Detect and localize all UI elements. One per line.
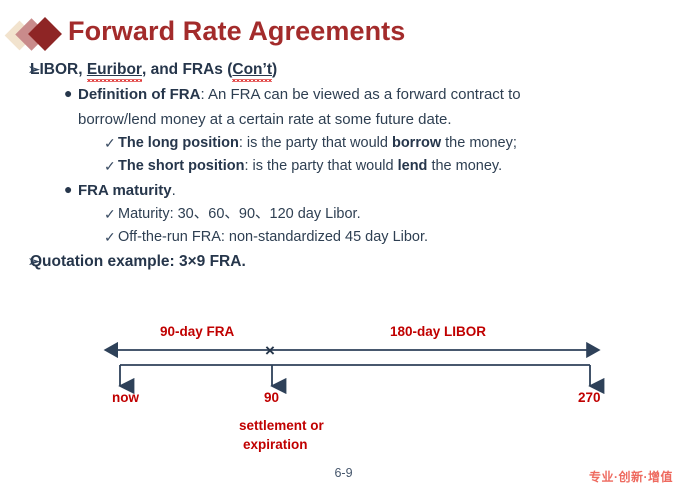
heading1-mid: , and FRAs ( <box>142 61 232 78</box>
bullet-fra-maturity: ●FRA maturity. <box>0 178 687 203</box>
timeline-node-270: 270 <box>578 390 601 405</box>
slide-body: ➢LIBOR, Euribor, and FRAs (Con’t) ●Defin… <box>0 57 687 274</box>
long-position-mid: : is the party that would <box>239 135 392 151</box>
heading1-euribor: Euribor <box>87 61 142 78</box>
long-position-label: The long position <box>118 135 239 151</box>
timeline-node-now: now <box>112 390 139 405</box>
dot-bullet-icon: ● <box>64 177 72 202</box>
short-position-tail: the money. <box>427 158 502 174</box>
timeline-node-90: 90 <box>264 390 279 405</box>
page-title: Forward Rate Agreements <box>68 16 405 47</box>
long-position-verb: borrow <box>392 135 441 151</box>
short-position-verb: lend <box>398 158 428 174</box>
bullet-long-position: ✓The long position: is the party that wo… <box>0 132 687 155</box>
bullet-libor-euribor-fras: ➢LIBOR, Euribor, and FRAs (Con’t) <box>0 57 687 82</box>
definition-text: : An FRA can be viewed as a forward cont… <box>200 86 520 103</box>
maturity-item-days: ✓Maturity: 30、60、90、120 day Libor. <box>0 203 687 226</box>
timeline-axis-graphic <box>0 318 687 458</box>
heading1-cont: Con’t <box>232 61 272 78</box>
definition-line2: borrow/lend money at a certain rate at s… <box>0 107 687 132</box>
fra-maturity-label: FRA maturity <box>78 182 172 199</box>
timeline-sublabel-settlement-line2: expiration <box>243 435 308 454</box>
heading1-post: ) <box>272 61 277 78</box>
timeline-sublabel-settlement-line1: settlement or <box>239 416 324 435</box>
dot-bullet-icon: ● <box>64 81 72 106</box>
maturity-item-days-text: Maturity: 30、60、90、120 day Libor. <box>118 206 361 222</box>
maturity-item-offtherun: ✓Off-the-run FRA: non-standardized 45 da… <box>0 226 687 249</box>
bullet-quotation-example: ➢Quotation example: 3×9 FRA. <box>0 249 687 274</box>
fra-maturity-tail: . <box>172 182 176 199</box>
diamond-cluster-logo-icon <box>8 20 66 50</box>
timeline-cross-marker: × <box>265 342 275 359</box>
bullet-short-position: ✓The short position: is the party that w… <box>0 155 687 178</box>
arrow-bullet-icon: ➢ <box>28 57 40 82</box>
arrow-bullet-icon: ➢ <box>28 249 40 274</box>
short-position-mid: : is the party that would <box>244 158 397 174</box>
short-position-label: The short position <box>118 158 244 174</box>
bullet-definition-of-fra: ●Definition of FRA: An FRA can be viewed… <box>0 82 687 107</box>
maturity-item-offtherun-text: Off-the-run FRA: non-standardized 45 day… <box>118 229 428 245</box>
definition-label: Definition of FRA <box>78 86 200 103</box>
quotation-example-text: Quotation example: 3×9 FRA. <box>30 253 246 270</box>
slide-header: Forward Rate Agreements <box>0 8 687 54</box>
check-bullet-icon: ✓ <box>104 155 116 178</box>
check-bullet-icon: ✓ <box>104 132 116 155</box>
corner-slogan: 专业·创新·增值 <box>589 468 673 485</box>
page-number: 6-9 <box>0 466 687 480</box>
check-bullet-icon: ✓ <box>104 226 116 249</box>
long-position-tail: the money; <box>441 135 517 151</box>
fra-timeline-diagram: 90-day FRA 180-day LIBOR × now 90 270 se… <box>0 318 687 458</box>
check-bullet-icon: ✓ <box>104 203 116 226</box>
